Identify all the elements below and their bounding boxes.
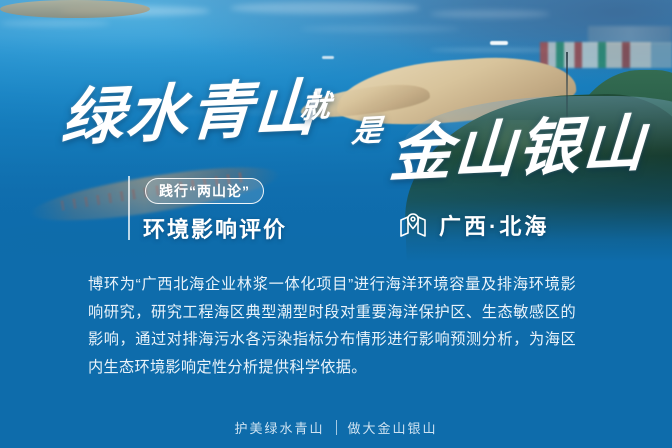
tagline-badge: 践行“两山论” xyxy=(145,178,264,204)
footer-slogan: 护美绿水青山 做大金山银山 xyxy=(0,418,672,437)
location-label: 广西·北海 xyxy=(439,209,549,241)
sand-flat xyxy=(0,0,150,18)
body-paragraph: 博环为“广西北海企业林浆一体化项目”进行海洋环境容量及排海环境影响研究，研究工程… xyxy=(88,271,576,381)
vertical-divider xyxy=(128,176,130,240)
cloud-wisp xyxy=(230,2,420,14)
footer-separator xyxy=(336,420,337,435)
boat xyxy=(322,56,334,59)
coastal-aerial-photo xyxy=(0,0,672,262)
cloud-wisp xyxy=(430,10,550,18)
photo-bottom-fade xyxy=(0,150,672,262)
map-pin-icon xyxy=(398,210,428,240)
page-subtitle: 环境影响评价 xyxy=(143,212,287,244)
promo-banner: 绿水青山 就 是 金山银山 践行“两山论” 环境影响评价 广西·北海 博环为“广… xyxy=(0,0,672,448)
container-port xyxy=(540,42,672,68)
footer-slogan-right: 做大金山银山 xyxy=(348,418,438,437)
location-group: 广西·北海 xyxy=(398,209,549,241)
footer-slogan-left: 护美绿水青山 xyxy=(234,418,324,437)
cloud-wisp xyxy=(300,26,460,32)
transmission-tower xyxy=(566,52,568,118)
cloud-wisp xyxy=(0,20,110,27)
boat xyxy=(490,41,508,45)
